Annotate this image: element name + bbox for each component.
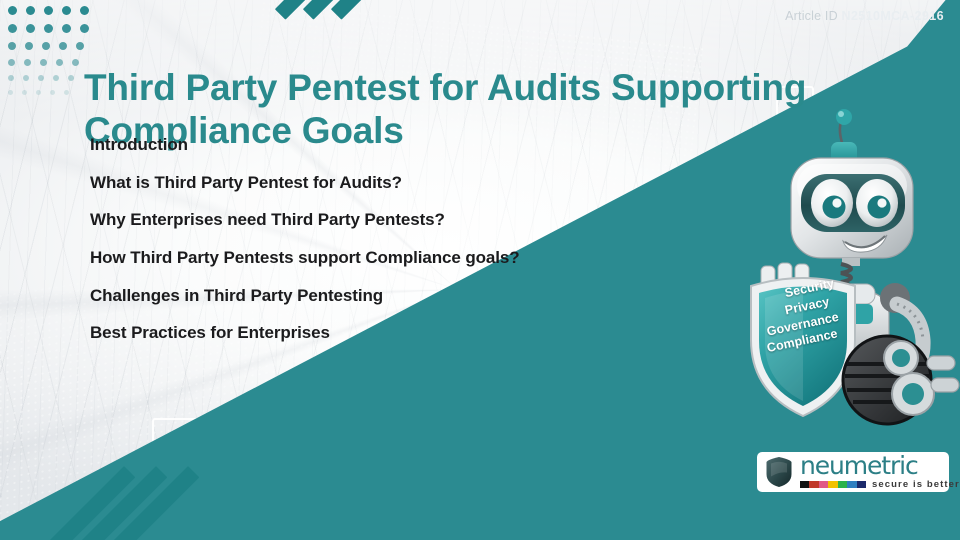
- toc-item-best-practices[interactable]: Best Practices for Enterprises: [90, 324, 650, 343]
- dot: [8, 59, 15, 66]
- dot: [8, 42, 16, 50]
- dot: [44, 6, 53, 15]
- toc-item-what-is[interactable]: What is Third Party Pentest for Audits?: [90, 174, 650, 193]
- logo-wordmark: neumetric: [800, 454, 960, 478]
- dot: [26, 24, 35, 33]
- article-id-label: Article ID: [785, 9, 838, 23]
- dot-row: [8, 75, 89, 81]
- dot: [80, 6, 89, 15]
- neumetric-logo[interactable]: neumetric secure is better: [757, 452, 949, 492]
- dot: [50, 90, 55, 95]
- dot-row: [8, 24, 89, 33]
- dot: [56, 59, 63, 66]
- toc-item-why-enterprises[interactable]: Why Enterprises need Third Party Pentest…: [90, 211, 650, 230]
- dot: [76, 42, 84, 50]
- dot: [80, 24, 89, 33]
- logo-shield-icon: [765, 456, 793, 488]
- dot: [53, 75, 59, 81]
- dot: [62, 24, 71, 33]
- toc-list: Introduction What is Third Party Pentest…: [90, 136, 650, 362]
- dot: [62, 6, 71, 15]
- robot-mascot-icon: [735, 108, 960, 438]
- dot: [36, 90, 41, 95]
- dot-row: [8, 59, 89, 66]
- slide-root: Article ID N2510MCA-2916 Third Party Pen…: [0, 0, 960, 540]
- article-id-value: N2510MCA-2916: [842, 9, 944, 23]
- dot: [24, 59, 31, 66]
- toc-item-introduction[interactable]: Introduction: [90, 136, 650, 155]
- dot: [8, 24, 17, 33]
- dot: [64, 90, 69, 95]
- dot: [25, 42, 33, 50]
- decor-dot-grid: [8, 6, 89, 104]
- dot-row: [8, 6, 89, 15]
- dot-row: [8, 90, 89, 95]
- dot: [72, 59, 79, 66]
- toc-item-how-support[interactable]: How Third Party Pentests support Complia…: [90, 249, 650, 268]
- dot: [26, 6, 35, 15]
- dot: [44, 24, 53, 33]
- dot: [8, 6, 17, 15]
- logo-tagline: secure is better: [872, 479, 960, 490]
- toc-item-challenges[interactable]: Challenges in Third Party Pentesting: [90, 287, 650, 306]
- logo-subline: secure is better: [800, 479, 960, 490]
- dot-row: [8, 42, 89, 50]
- dot: [8, 75, 14, 81]
- logo-color-bars: [800, 481, 866, 488]
- dot: [42, 42, 50, 50]
- dot: [59, 42, 67, 50]
- dot: [22, 90, 27, 95]
- article-id: Article ID N2510MCA-2916: [785, 9, 944, 23]
- logo-text-block: neumetric secure is better: [800, 454, 960, 491]
- dot: [40, 59, 47, 66]
- dot: [8, 90, 13, 95]
- dot: [23, 75, 29, 81]
- dot: [38, 75, 44, 81]
- dot: [68, 75, 74, 81]
